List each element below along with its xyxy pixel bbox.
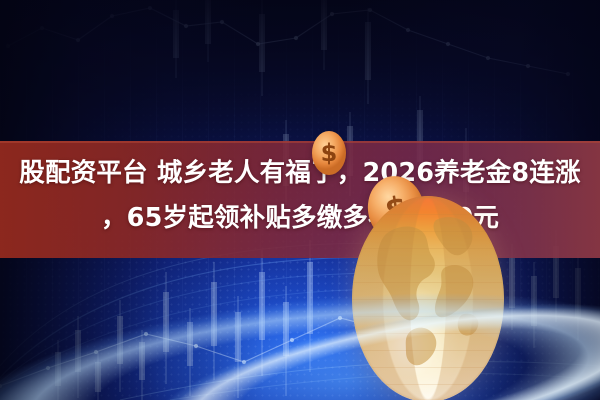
page-title: 股配资平台 城乡老人有福了，2026养老金8连涨 ，65岁起领补贴多缴多补至40…	[0, 151, 600, 241]
title-band-top-edge	[0, 141, 600, 143]
globe-longitude-lines	[352, 196, 504, 400]
headline-line-2: ，65岁起领补贴多缴多补至400元	[0, 196, 600, 241]
dollar-coin-small-icon: $	[312, 131, 346, 175]
headline-line-1: 股配资平台 城乡老人有福了，2026养老金8连涨	[19, 158, 580, 188]
golden-globe-graphic	[352, 196, 504, 400]
banner-image: $ $ 股配资平台 城乡老人有福了，2026养老金8连涨 ，65岁起领补贴多缴多…	[0, 0, 600, 400]
